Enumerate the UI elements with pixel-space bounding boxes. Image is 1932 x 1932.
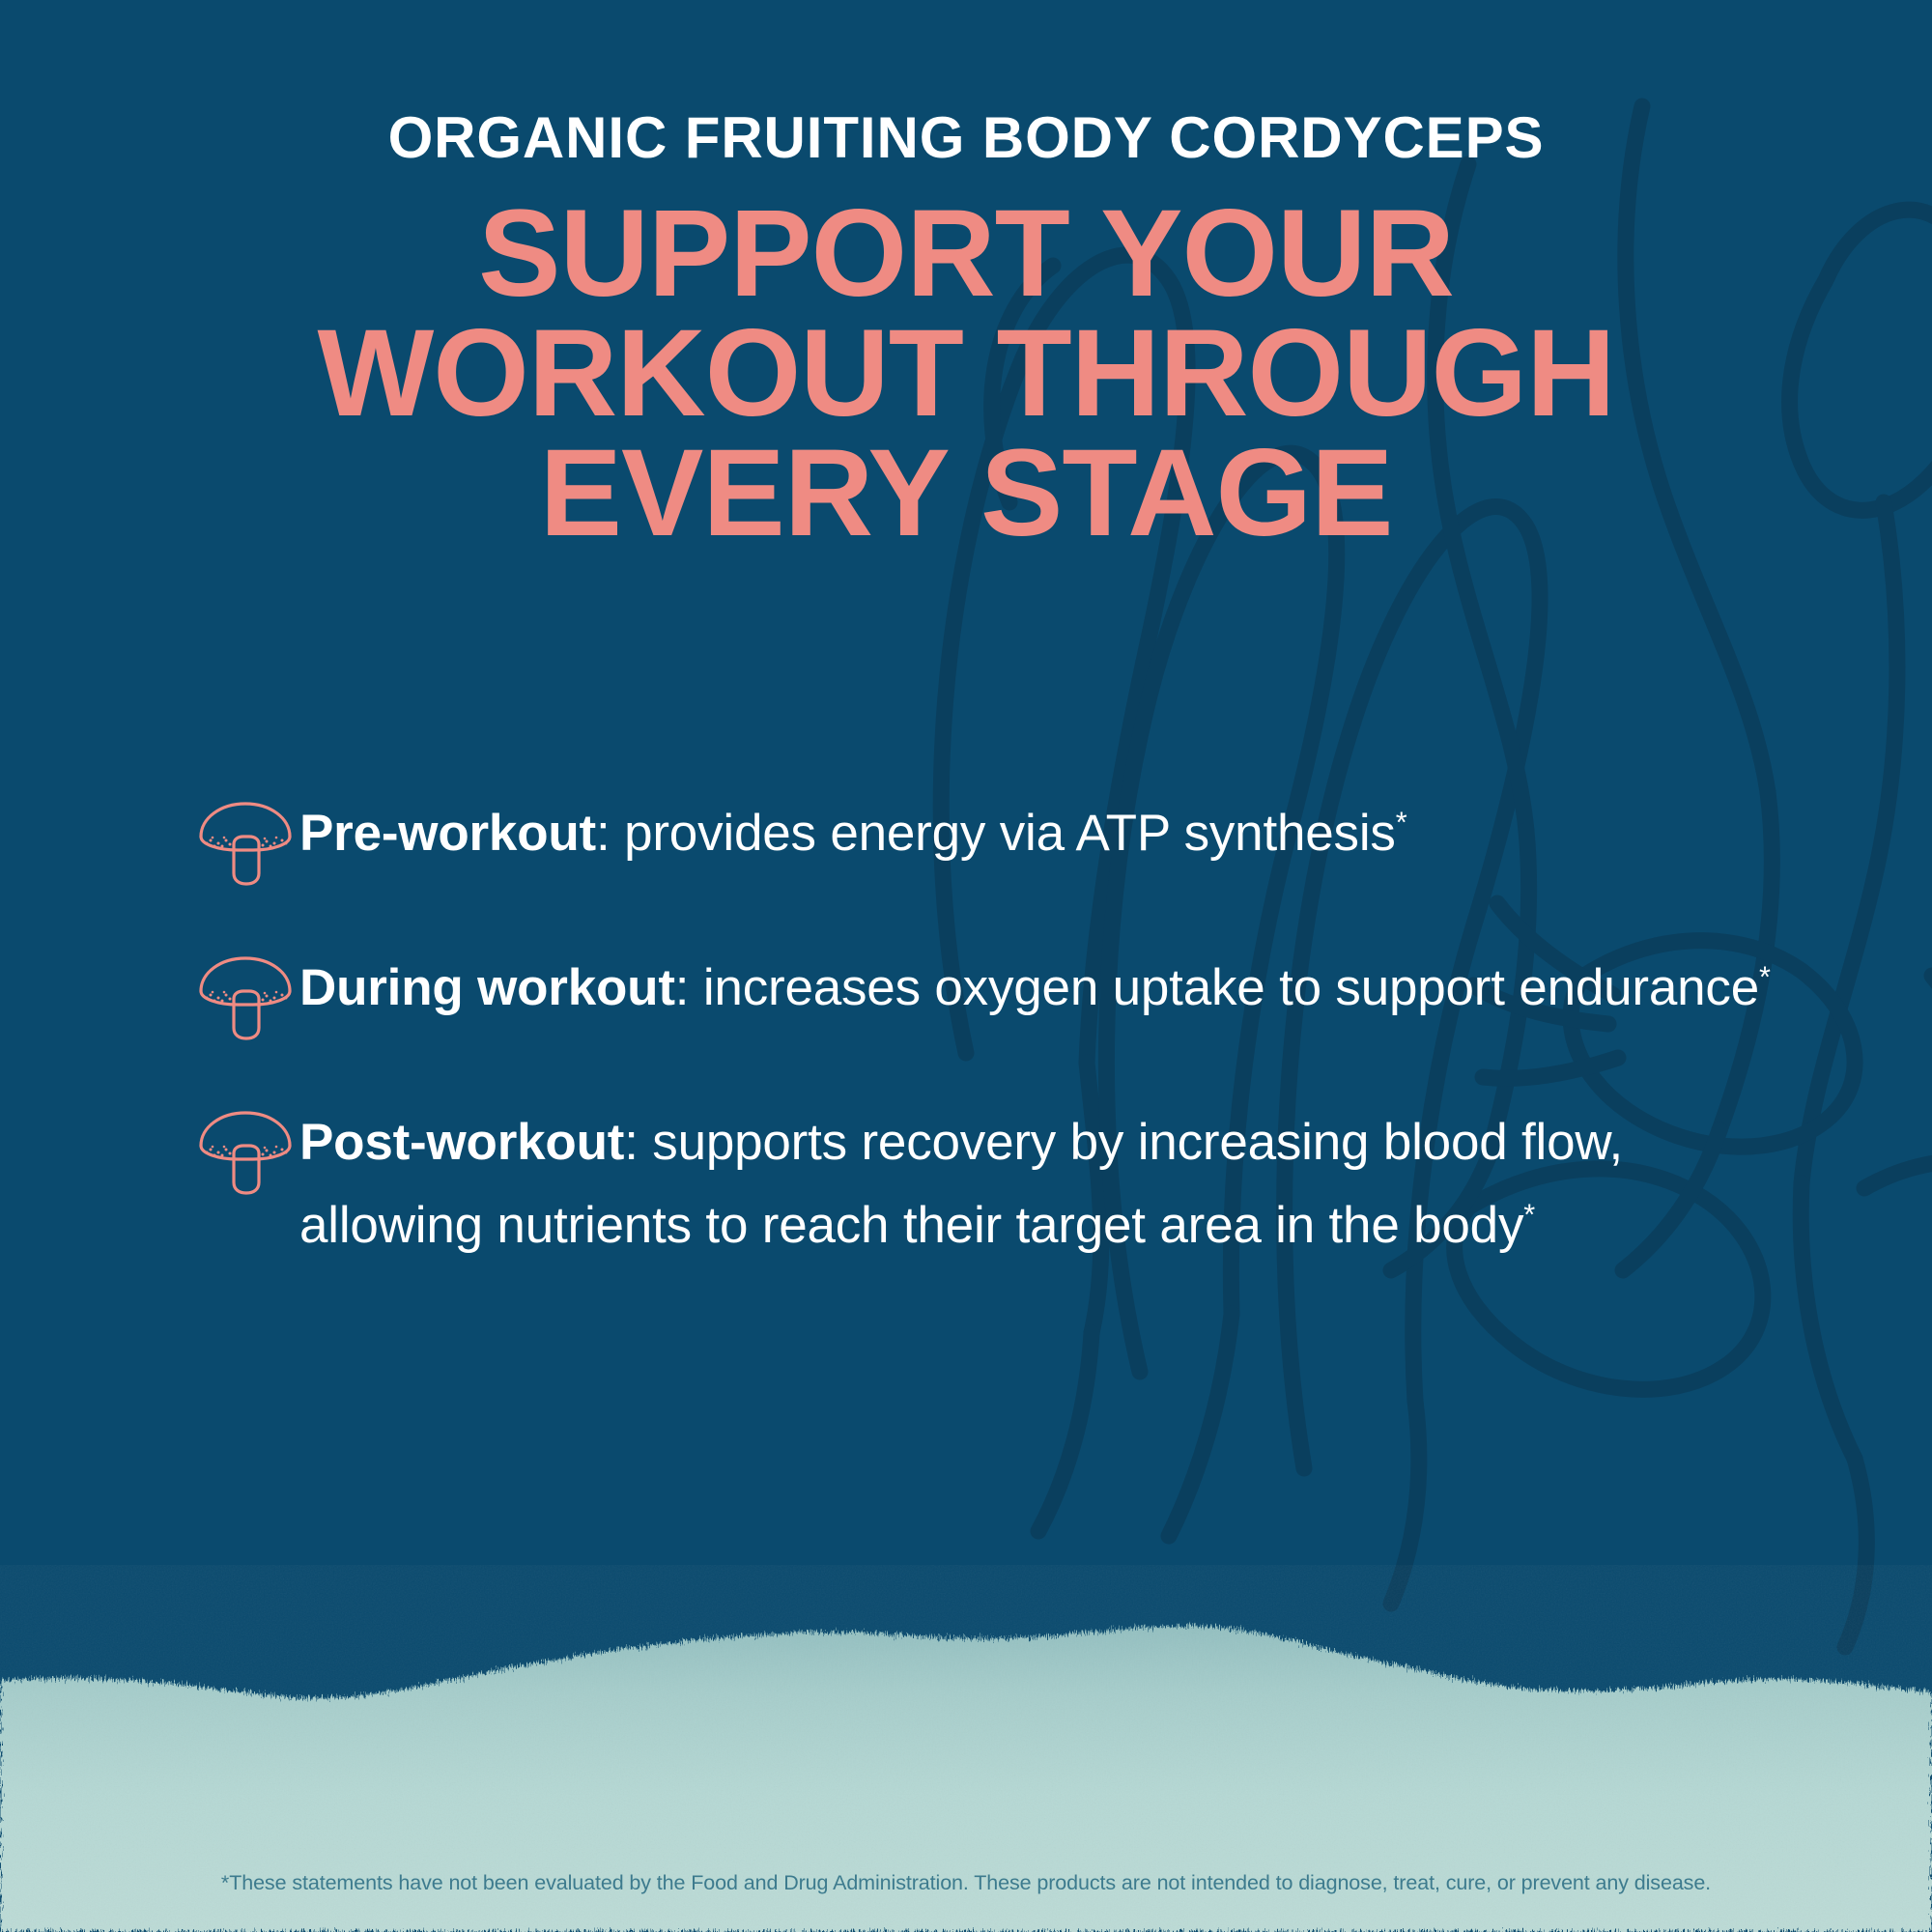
headline: SUPPORT YOUR WORKOUT THROUGH EVERY STAGE <box>0 194 1932 554</box>
footnote-marker: * <box>1523 1197 1535 1231</box>
mushroom-icon <box>193 952 299 1041</box>
list-item: Post-workout: supports recovery by incre… <box>0 1101 1932 1267</box>
headline-line-1: SUPPORT YOUR <box>0 194 1932 314</box>
mushroom-icon <box>193 1107 299 1196</box>
list-item-separator: : <box>624 1114 652 1171</box>
list-item-label: Post-workout <box>299 1114 624 1171</box>
fda-disclaimer: *These statements have not been evaluate… <box>0 1871 1932 1895</box>
list-item-text: Pre-workout: provides energy via ATP syn… <box>299 792 1406 875</box>
list-item-text: Post-workout: supports recovery by incre… <box>299 1101 1806 1267</box>
benefit-list: Pre-workout: provides energy via ATP syn… <box>0 792 1932 1327</box>
list-item-separator: : <box>596 805 624 862</box>
footnote-marker: * <box>1759 959 1771 993</box>
list-item-body: increases oxygen uptake to support endur… <box>703 959 1759 1016</box>
content-block: ORGANIC FRUITING BODY CORDYCEPS SUPPORT … <box>0 0 1932 554</box>
headline-line-3: EVERY STAGE <box>0 434 1932 554</box>
mushroom-icon <box>193 798 299 887</box>
footnote-marker: * <box>1396 805 1407 838</box>
eyebrow-text: ORGANIC FRUITING BODY CORDYCEPS <box>0 109 1932 167</box>
headline-line-2: WORKOUT THROUGH <box>0 314 1932 434</box>
poster-canvas: ORGANIC FRUITING BODY CORDYCEPS SUPPORT … <box>0 0 1932 1932</box>
list-item-body: provides energy via ATP synthesis <box>624 805 1396 862</box>
list-item: During workout: increases oxygen uptake … <box>0 947 1932 1041</box>
list-item-label: During workout <box>299 959 675 1016</box>
list-item-separator: : <box>675 959 703 1016</box>
list-item-text: During workout: increases oxygen uptake … <box>299 947 1771 1030</box>
list-item: Pre-workout: provides energy via ATP syn… <box>0 792 1932 887</box>
list-item-label: Pre-workout <box>299 805 596 862</box>
